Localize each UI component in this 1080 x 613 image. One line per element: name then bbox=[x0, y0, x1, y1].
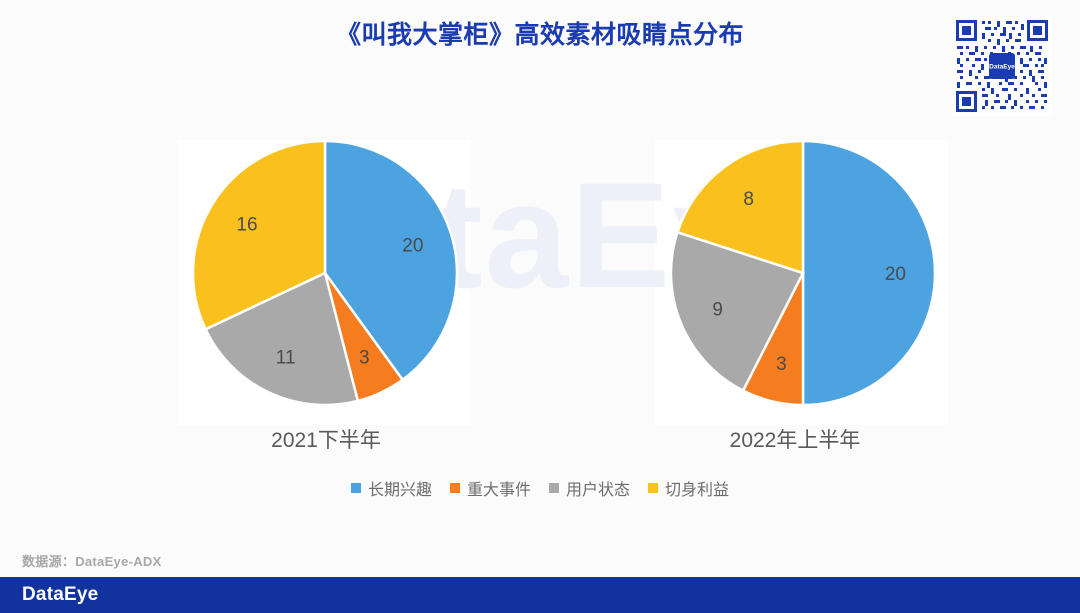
qr-code[interactable]: DataEye bbox=[952, 16, 1052, 116]
pie-slice-value-用户状态: 9 bbox=[712, 299, 723, 320]
chart-legend: 长期兴趣 重大事件 用户状态 切身利益 bbox=[0, 476, 1080, 500]
legend-label-1: 重大事件 bbox=[467, 476, 531, 500]
pie-slice-长期兴趣[interactable] bbox=[803, 141, 935, 405]
legend-swatch-icon-2 bbox=[549, 483, 559, 493]
data-source-note: 数据源：DataEye-ADX bbox=[22, 551, 162, 570]
pie-slice-value-重大事件: 3 bbox=[359, 348, 370, 369]
legend-item-0[interactable]: 长期兴趣 bbox=[351, 476, 432, 500]
pie-slice-value-长期兴趣: 20 bbox=[885, 264, 906, 285]
pie-slice-value-切身利益: 16 bbox=[236, 214, 257, 235]
legend-swatch-icon-3 bbox=[648, 483, 658, 493]
brand-logo: DataEye bbox=[22, 584, 98, 606]
pie-chart-2-svg: 20398 bbox=[668, 138, 938, 408]
pie-chart-1-svg: 2031116 bbox=[190, 138, 460, 408]
page-title: 《叫我大掌柜》高效素材吸睛点分布 bbox=[0, 18, 1080, 52]
pie-chart-2: 20398 bbox=[668, 138, 938, 408]
chart-1-period-label: 2021下半年 bbox=[176, 424, 476, 454]
pie-slice-value-切身利益: 8 bbox=[743, 189, 754, 210]
legend-item-2[interactable]: 用户状态 bbox=[549, 476, 630, 500]
bottom-bar: DataEye bbox=[0, 577, 1080, 613]
qr-code-icon: DataEye bbox=[952, 16, 1052, 116]
legend-label-2: 用户状态 bbox=[566, 476, 630, 500]
pie-slice-value-长期兴趣: 20 bbox=[402, 235, 423, 256]
pie-slice-value-用户状态: 11 bbox=[276, 348, 296, 369]
legend-item-1[interactable]: 重大事件 bbox=[450, 476, 531, 500]
qr-center-badge-label: DataEye bbox=[989, 64, 1015, 71]
legend-swatch-icon-1 bbox=[450, 483, 460, 493]
legend-label-3: 切身利益 bbox=[665, 476, 729, 500]
legend-label-0: 长期兴趣 bbox=[368, 476, 432, 500]
chart-2-period-label: 2022年上半年 bbox=[645, 424, 945, 454]
legend-item-3[interactable]: 切身利益 bbox=[648, 476, 729, 500]
pie-slice-value-重大事件: 3 bbox=[776, 354, 787, 375]
pie-chart-1: 2031116 bbox=[190, 138, 460, 408]
legend-swatch-icon-0 bbox=[351, 483, 361, 493]
